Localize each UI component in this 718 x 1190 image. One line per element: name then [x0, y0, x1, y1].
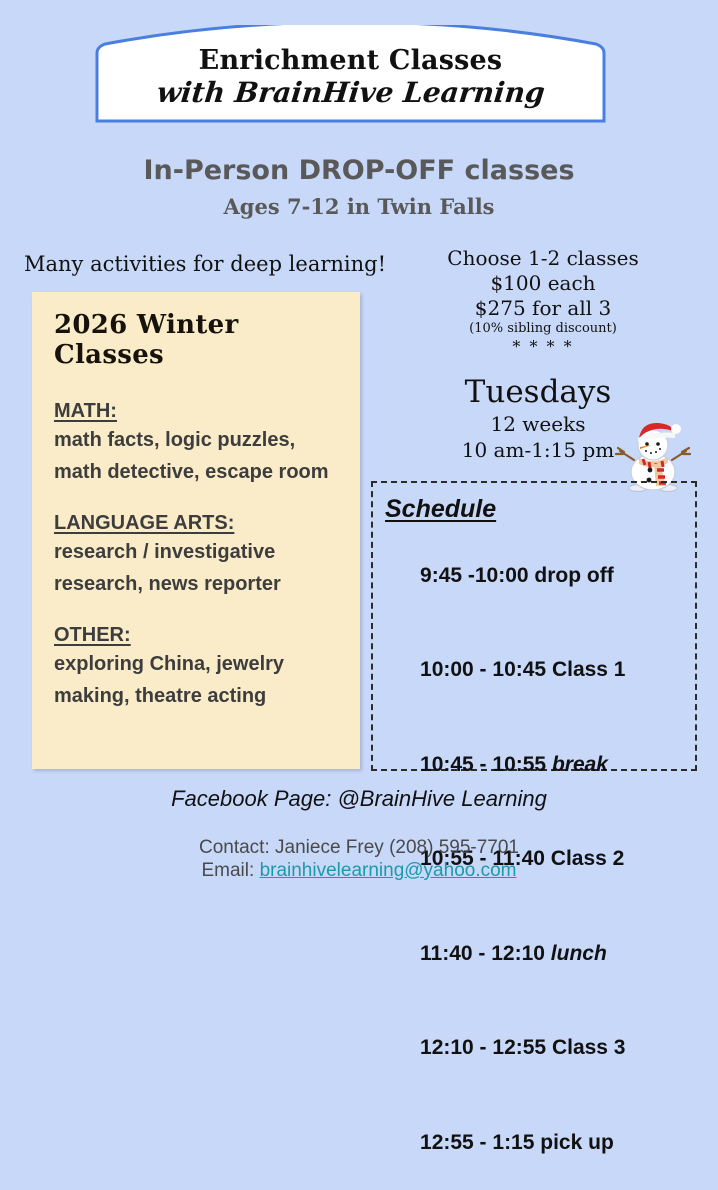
- category-line-language-arts-2: research, news reporter: [54, 571, 346, 599]
- email-link[interactable]: brainhivelearning@yahoo.com: [260, 860, 517, 881]
- class-day: Tuesdays: [398, 375, 678, 411]
- category-line-math-1: math facts, logic puzzles,: [54, 427, 346, 455]
- category-line-other-2: making, theatre acting: [54, 683, 346, 711]
- schedule-row: 12:10 - 12:55 Class 3: [385, 1001, 695, 1096]
- schedule-row-label: lunch: [551, 942, 607, 965]
- schedule-row: 9:45 -10:00 drop off: [385, 528, 695, 623]
- schedule-row: 11:40 - 12:10 lunch: [385, 906, 695, 1001]
- flyer-page: Enrichment Classes with BrainHive Learni…: [0, 0, 718, 923]
- banner: Enrichment Classes with BrainHive Learni…: [93, 25, 608, 125]
- banner-text-block: Enrichment Classes with BrainHive Learni…: [93, 25, 608, 125]
- banner-title: Enrichment Classes: [199, 47, 503, 75]
- headline-primary: In-Person DROP-OFF classes: [0, 155, 718, 186]
- category-heading-other: OTHER:: [54, 624, 346, 647]
- class-box-title: 2026 Winter Classes: [54, 310, 346, 370]
- class-list-box: 2026 Winter Classes MATH: math facts, lo…: [32, 292, 360, 769]
- pricing-block: Choose 1-2 classes $100 each $275 for al…: [398, 246, 688, 355]
- schedule-row-time: 10:00 - 10:45: [420, 658, 552, 681]
- schedule-row-time: 12:55 - 1:15: [420, 1131, 540, 1154]
- category-heading-math: MATH:: [54, 400, 346, 423]
- schedule-row-time: 11:40 - 12:10: [420, 942, 551, 965]
- schedule-row-label: Class 1: [552, 658, 626, 681]
- email-line: Email: brainhivelearning@yahoo.com: [0, 860, 718, 882]
- schedule-box: Schedule 9:45 -10:00 drop off 10:00 - 10…: [371, 481, 697, 771]
- category-line-other-1: exploring China, jewelry: [54, 651, 346, 679]
- divider-stars: * * * *: [398, 338, 688, 356]
- banner-subtitle: with BrainHive Learning: [155, 77, 546, 109]
- category-line-math-2: math detective, escape room: [54, 459, 346, 487]
- schedule-row-label: break: [552, 753, 608, 776]
- pricing-line-3: $275 for all 3: [398, 296, 688, 321]
- schedule-row: 12:55 - 1:15 pick up: [385, 1095, 695, 1190]
- schedule-row-label: Class 3: [552, 1036, 626, 1059]
- email-label: Email:: [201, 860, 259, 881]
- contact-line: Contact: Janiece Frey (208) 595-7701: [0, 835, 718, 862]
- category-heading-language-arts: LANGUAGE ARTS:: [54, 512, 346, 535]
- category-line-language-arts-1: research / investigative: [54, 539, 346, 567]
- pricing-discount-note: (10% sibling discount): [398, 321, 688, 338]
- pricing-line-2: $100 each: [398, 271, 688, 296]
- schedule-row-time: 12:10 - 12:55: [420, 1036, 552, 1059]
- schedule-row-time: 9:45 -10:00: [420, 564, 534, 587]
- schedule-row-label: drop off: [534, 564, 613, 587]
- pricing-line-1: Choose 1-2 classes: [398, 246, 688, 271]
- schedule-row-label: pick up: [540, 1131, 614, 1154]
- schedule-heading: Schedule: [385, 495, 695, 524]
- schedule-row-time: 10:45 - 10:55: [420, 753, 552, 776]
- tagline: Many activities for deep learning!: [24, 252, 386, 276]
- schedule-row: 10:00 - 10:45 Class 1: [385, 623, 695, 718]
- headline-secondary: Ages 7-12 in Twin Falls: [0, 194, 718, 219]
- facebook-page-line: Facebook Page: @BrainHive Learning: [0, 786, 718, 812]
